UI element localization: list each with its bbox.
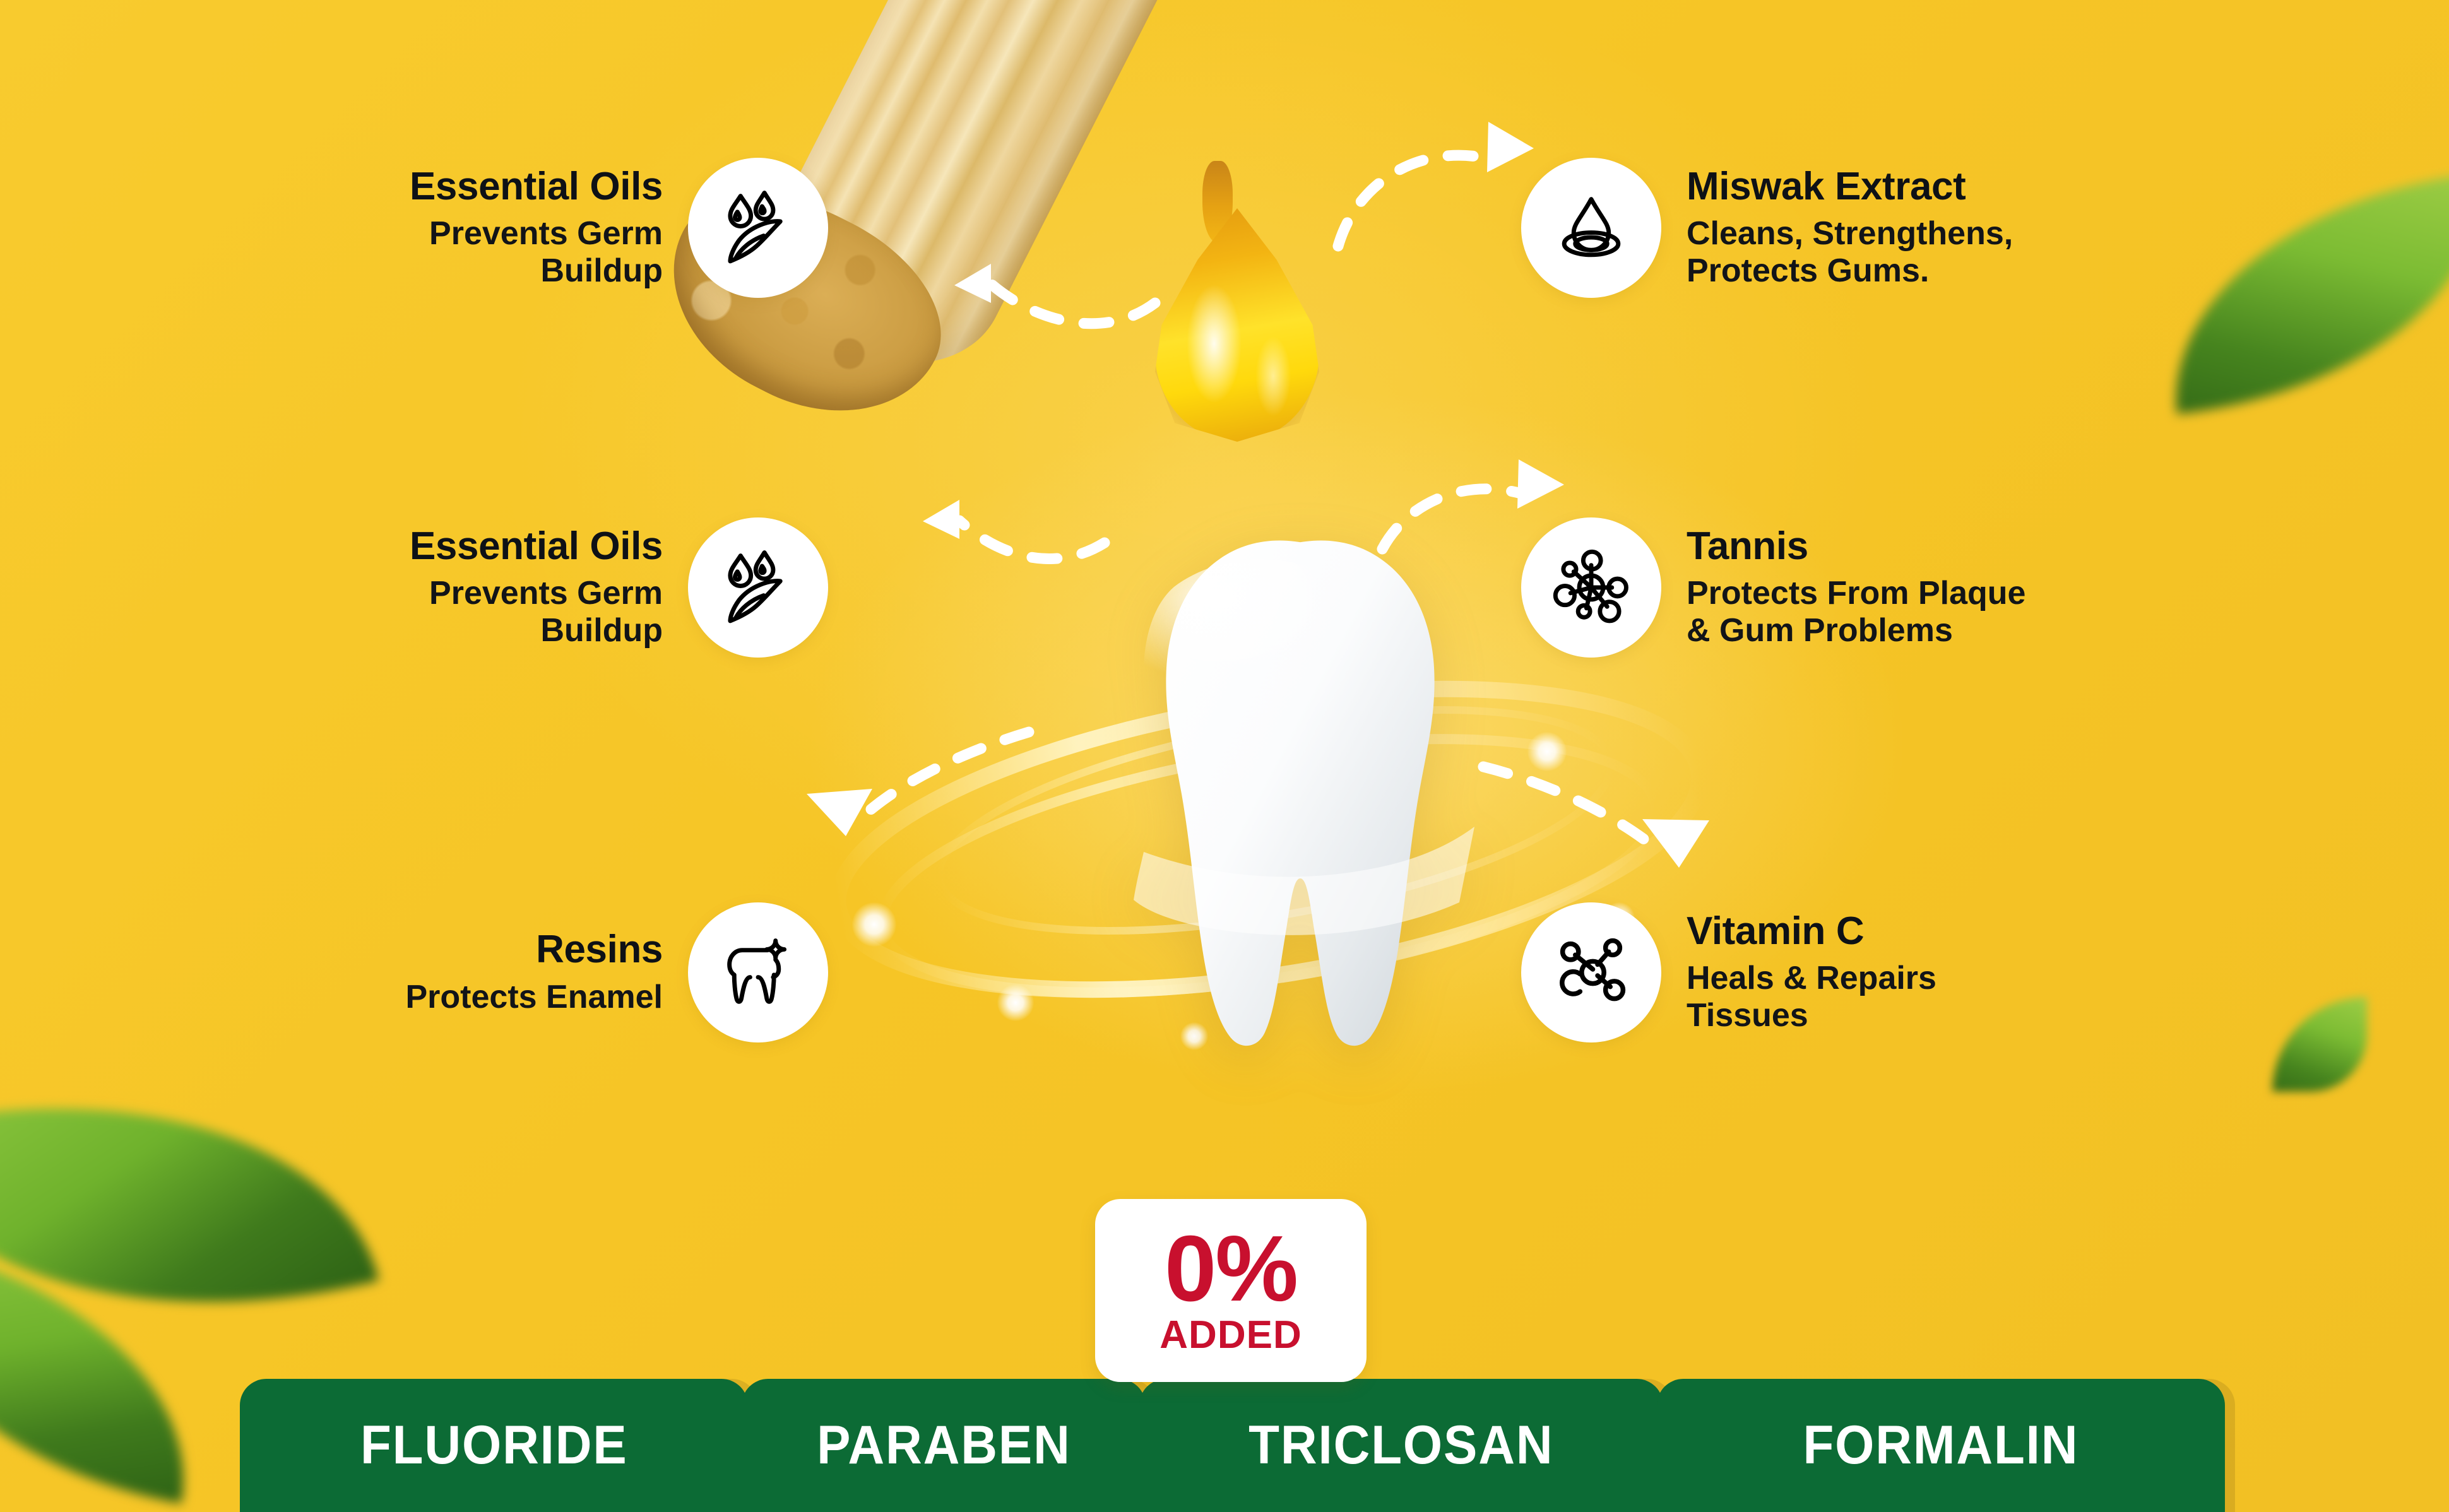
badge-label: ADDED (1159, 1316, 1302, 1355)
ingredient-desc-line: Prevents Germ (246, 215, 663, 252)
ingredient-icon-badge[interactable] (688, 517, 828, 658)
ingredient-title: Essential Oils (246, 167, 663, 206)
dashed-arrow-to-resins (776, 713, 1048, 928)
tooth-illustration (1023, 536, 1502, 1092)
ingredient-icon-badge[interactable] (1521, 902, 1661, 1042)
ingredient-desc-line: Protects From Plaque (1687, 575, 2292, 611)
droplet-leaf-icon (718, 548, 798, 627)
leaf-tip-decoration-right (2272, 997, 2367, 1092)
ingredient-desc-line: Tissues (1687, 997, 2255, 1034)
ingredient-row-miswak-extract: Miswak Extract Cleans, Strengthens, Prot… (1521, 158, 2255, 298)
oil-drop-icon (1155, 208, 1319, 442)
ingredient-desc-line: Heals & Repairs (1687, 960, 2255, 996)
ingredient-desc-line: Cleans, Strengthens, (1687, 215, 2255, 252)
zero-percent-added-badge: 0% ADDED (1095, 1199, 1367, 1382)
infographic-canvas: Essential Oils Prevents Germ Buildup (0, 0, 2449, 1512)
ingredient-title: Miswak Extract (1687, 167, 2255, 206)
ingredient-desc-line: Protects Enamel (246, 979, 663, 1015)
ingredient-desc-line: Buildup (246, 252, 663, 289)
ingredient-row-resins: Resins Protects Enamel (246, 902, 828, 1042)
ingredient-desc-line: Protects Gums. (1687, 252, 2255, 289)
free-from-label: FLUORIDE (360, 1414, 628, 1477)
molecule-c-icon (1551, 933, 1631, 1012)
ingredient-row-essential-oils-mid: Essential Oils Prevents Germ Buildup (246, 517, 828, 658)
free-from-bar: FLUORIDE PARABEN TRICLOSAN FORMALIN (240, 1379, 2234, 1512)
free-from-chip-triclosan[interactable]: TRICLOSAN (1139, 1379, 1663, 1512)
ingredient-icon-badge[interactable] (1521, 517, 1661, 658)
ingredient-title: Essential Oils (246, 526, 663, 566)
droplet-leaf-icon (718, 188, 798, 268)
ingredient-title: Resins (246, 930, 663, 969)
molecule-hub-icon (1551, 548, 1631, 627)
ingredient-icon-badge[interactable] (688, 158, 828, 298)
free-from-chip-paraben[interactable]: PARABEN (742, 1379, 1146, 1512)
ingredient-row-vitamin-c: Vitamin C Heals & Repairs Tissues (1521, 902, 2255, 1042)
ingredient-icon-badge[interactable] (1521, 158, 1661, 298)
ingredient-title: Vitamin C (1687, 911, 2255, 951)
ingredient-desc-line: & Gum Problems (1687, 612, 2292, 649)
ingredient-desc-line: Buildup (246, 612, 663, 649)
ingredient-title: Tannis (1687, 526, 2292, 566)
ingredient-row-essential-oils-top: Essential Oils Prevents Germ Buildup (246, 158, 828, 298)
droplet-ripple-icon (1551, 188, 1631, 268)
free-from-label: FORMALIN (1803, 1414, 2079, 1477)
free-from-chip-formalin[interactable]: FORMALIN (1657, 1379, 2225, 1512)
free-from-chip-fluoride[interactable]: FLUORIDE (240, 1379, 748, 1512)
badge-percent: 0% (1165, 1226, 1297, 1312)
ingredient-icon-badge[interactable] (688, 902, 828, 1042)
free-from-label: PARABEN (817, 1414, 1071, 1477)
ingredient-desc-line: Prevents Germ (246, 575, 663, 611)
free-from-label: TRICLOSAN (1248, 1414, 1553, 1477)
ingredient-row-tannis: Tannis Protects From Plaque & Gum Proble… (1521, 517, 2292, 658)
tooth-sparkle-icon (718, 933, 798, 1012)
